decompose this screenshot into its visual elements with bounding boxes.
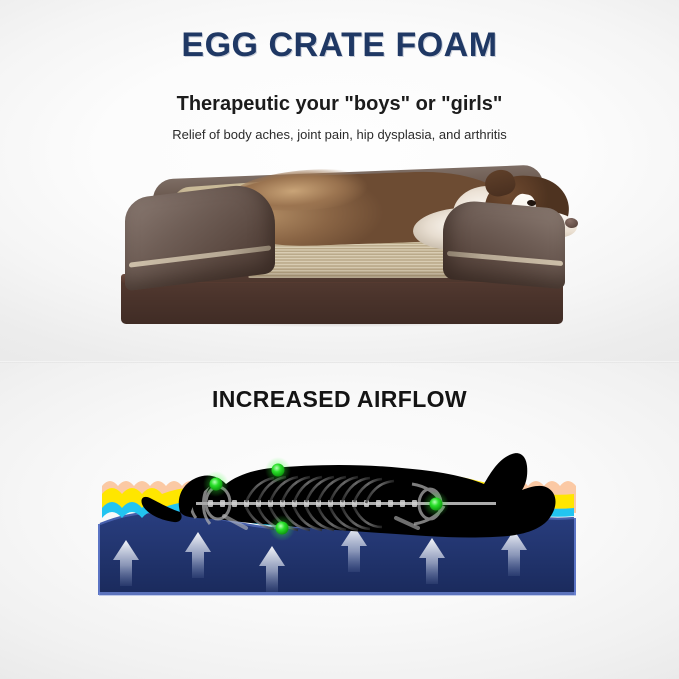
pressure-point: [203, 471, 229, 497]
bed-left-bolster: [125, 181, 275, 291]
page-title: EGG CRATE FOAM: [0, 26, 679, 65]
product-infographic: EGG CRATE FOAM Therapeutic your "boys" o…: [0, 0, 679, 679]
dog-bed-photo: Brown and white Australian Shepherd rest…: [113, 168, 568, 333]
pressure-point: [269, 515, 295, 541]
foam-bottom-edge: [99, 592, 576, 596]
pressure-point: [423, 491, 449, 517]
description-text: Relief of body aches, joint pain, hip dy…: [0, 127, 679, 142]
bed-base: [121, 278, 563, 324]
airflow-heading: INCREASED AIRFLOW: [0, 386, 679, 413]
airflow-diagram: Cross-section of an egg crate foam bed s…: [96, 428, 583, 603]
subtitle: Therapeutic your "boys" or "girls": [0, 93, 679, 116]
bed-right-bolster: [443, 199, 565, 290]
pressure-point: [265, 457, 291, 483]
